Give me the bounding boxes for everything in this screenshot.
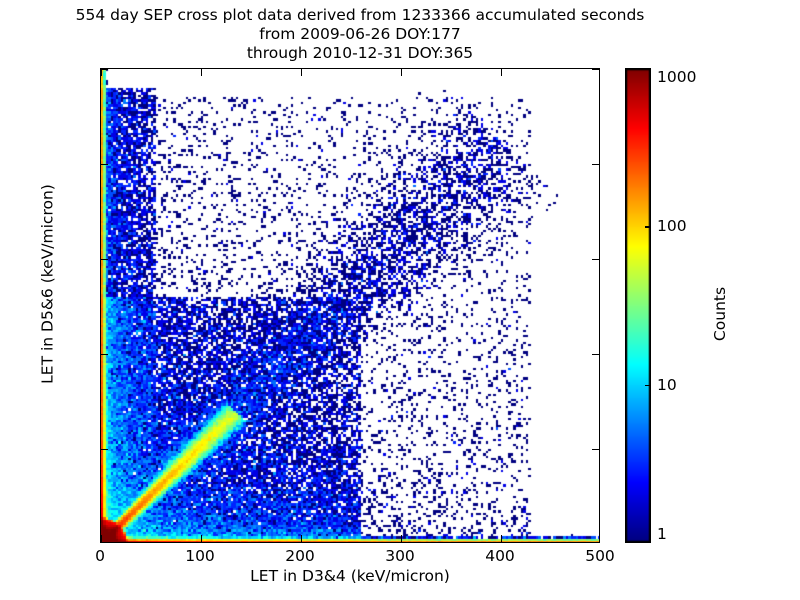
- title-line-2: from 2009-06-26 DOY:177: [0, 25, 720, 44]
- x-tick-top: [501, 69, 502, 76]
- y-tick-right: [592, 354, 599, 355]
- x-axis-label: LET in D3&4 (keV/micron): [100, 567, 600, 585]
- plot-title: 554 day SEP cross plot data derived from…: [0, 6, 720, 63]
- x-tick-label: 200: [285, 547, 315, 565]
- colorbar-label: Counts: [711, 194, 729, 434]
- colorbar-container: [625, 68, 651, 543]
- y-axis-label: LET in D5&6 (keV/micron): [39, 47, 57, 522]
- x-tick-top: [201, 69, 202, 76]
- y-tick: [101, 69, 108, 70]
- x-tick: [501, 535, 502, 542]
- x-tick-top: [401, 69, 402, 76]
- x-tick: [101, 535, 102, 542]
- x-tick: [301, 535, 302, 542]
- x-tick-label: 0: [95, 547, 105, 565]
- y-tick-right: [592, 164, 599, 165]
- y-tick-right: [592, 259, 599, 260]
- colorbar-tick: [645, 385, 651, 386]
- x-tick-label: 500: [585, 547, 615, 565]
- x-tick-top: [301, 69, 302, 76]
- x-tick: [201, 535, 202, 542]
- y-tick: [101, 449, 108, 450]
- scatter-density-plot: [101, 69, 600, 543]
- colorbar-tick-label: 100: [657, 217, 687, 235]
- x-tick-label: 400: [485, 547, 515, 565]
- y-tick-right: [592, 449, 599, 450]
- y-tick-right: [592, 69, 599, 70]
- x-tick-label: 100: [185, 547, 215, 565]
- figure-canvas: 554 day SEP cross plot data derived from…: [0, 0, 800, 600]
- x-tick-label: 300: [385, 547, 415, 565]
- plot-axes: [100, 68, 600, 543]
- title-line-3: through 2010-12-31 DOY:365: [0, 44, 720, 63]
- y-tick: [101, 259, 108, 260]
- y-tick: [101, 164, 108, 165]
- x-tick: [401, 535, 402, 542]
- colorbar-tick-label: 1: [657, 525, 667, 543]
- colorbar-tick-label: 1000: [657, 68, 696, 86]
- colorbar-tick-label: 10: [657, 376, 677, 394]
- colorbar-gradient: [625, 68, 651, 543]
- y-tick: [101, 354, 108, 355]
- title-line-1: 554 day SEP cross plot data derived from…: [0, 6, 720, 25]
- colorbar-tick: [645, 226, 651, 227]
